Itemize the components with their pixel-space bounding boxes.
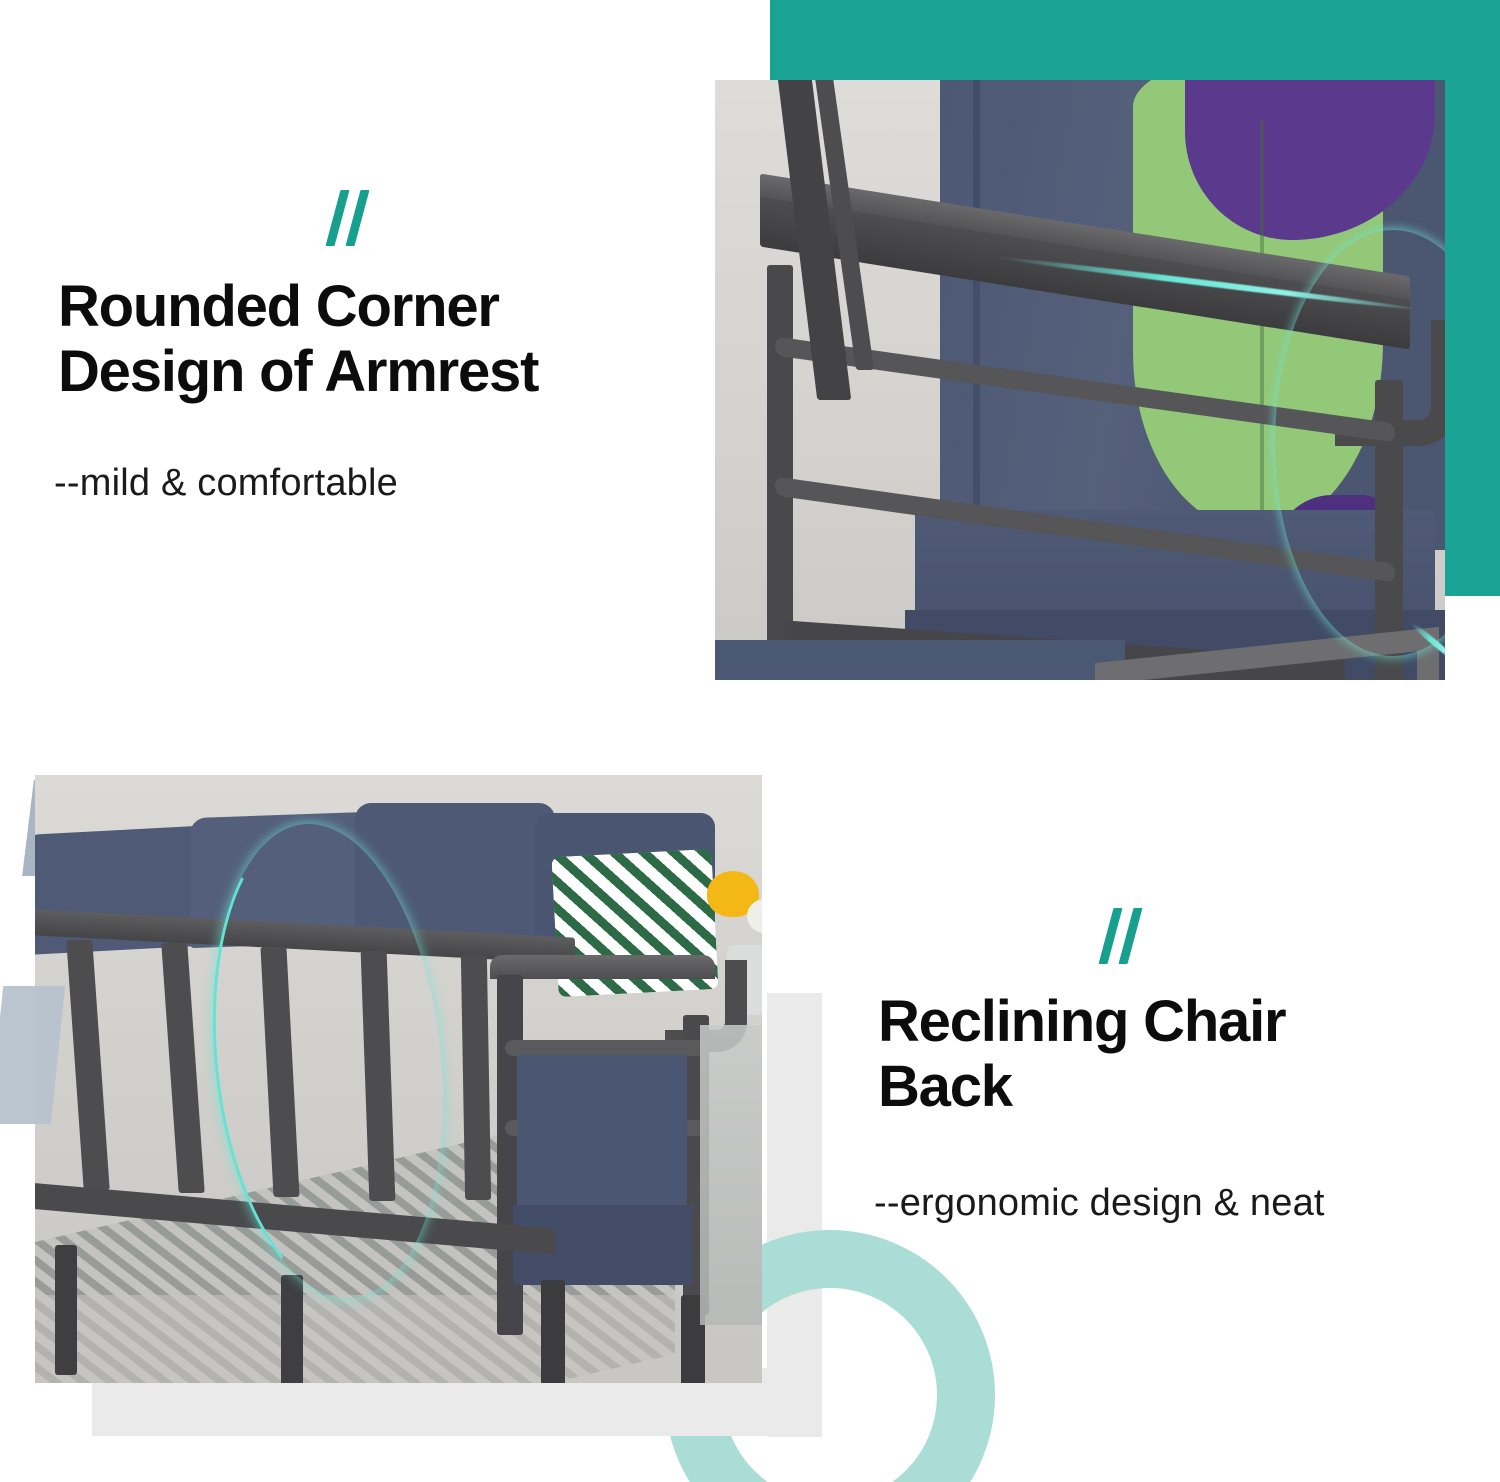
- slash-decoration-top: [333, 190, 362, 246]
- slash-icon: [1118, 908, 1142, 964]
- slash-decoration-bottom: [1106, 908, 1135, 964]
- product-photo-reclining-back: [35, 775, 762, 1383]
- slash-icon: [345, 190, 369, 246]
- headline-rounded-corner: Rounded Corner Design of Armrest: [58, 275, 698, 405]
- table-edge: [715, 640, 1125, 680]
- back-slat-5: [461, 955, 491, 1200]
- headline-reclining-back: Reclining Chair Back: [878, 990, 1418, 1120]
- subheadline-reclining-back: --ergonomic design & neat: [874, 1182, 1325, 1225]
- side-table: [700, 1025, 762, 1325]
- armchair-leg-front: [541, 1280, 565, 1383]
- subheadline-rounded-corner: --mild & comfortable: [54, 462, 398, 505]
- armchair-cushion: [517, 1055, 687, 1225]
- armchair-slat-upper: [505, 1040, 705, 1056]
- throw-pillow-seam: [1260, 120, 1264, 540]
- floor-surface: [35, 1295, 762, 1383]
- sofa-leg-left: [55, 1245, 77, 1375]
- slash-icon: [1098, 908, 1122, 964]
- sofa-leg-mid: [281, 1275, 303, 1383]
- slash-icon: [325, 190, 349, 246]
- cushion-backrest-seam: [973, 80, 980, 540]
- armrest-rear-post: [767, 265, 793, 680]
- infographic-canvas: Rounded Corner Design of Armrest --mild …: [0, 0, 1500, 1482]
- product-photo-armrest: [715, 80, 1445, 680]
